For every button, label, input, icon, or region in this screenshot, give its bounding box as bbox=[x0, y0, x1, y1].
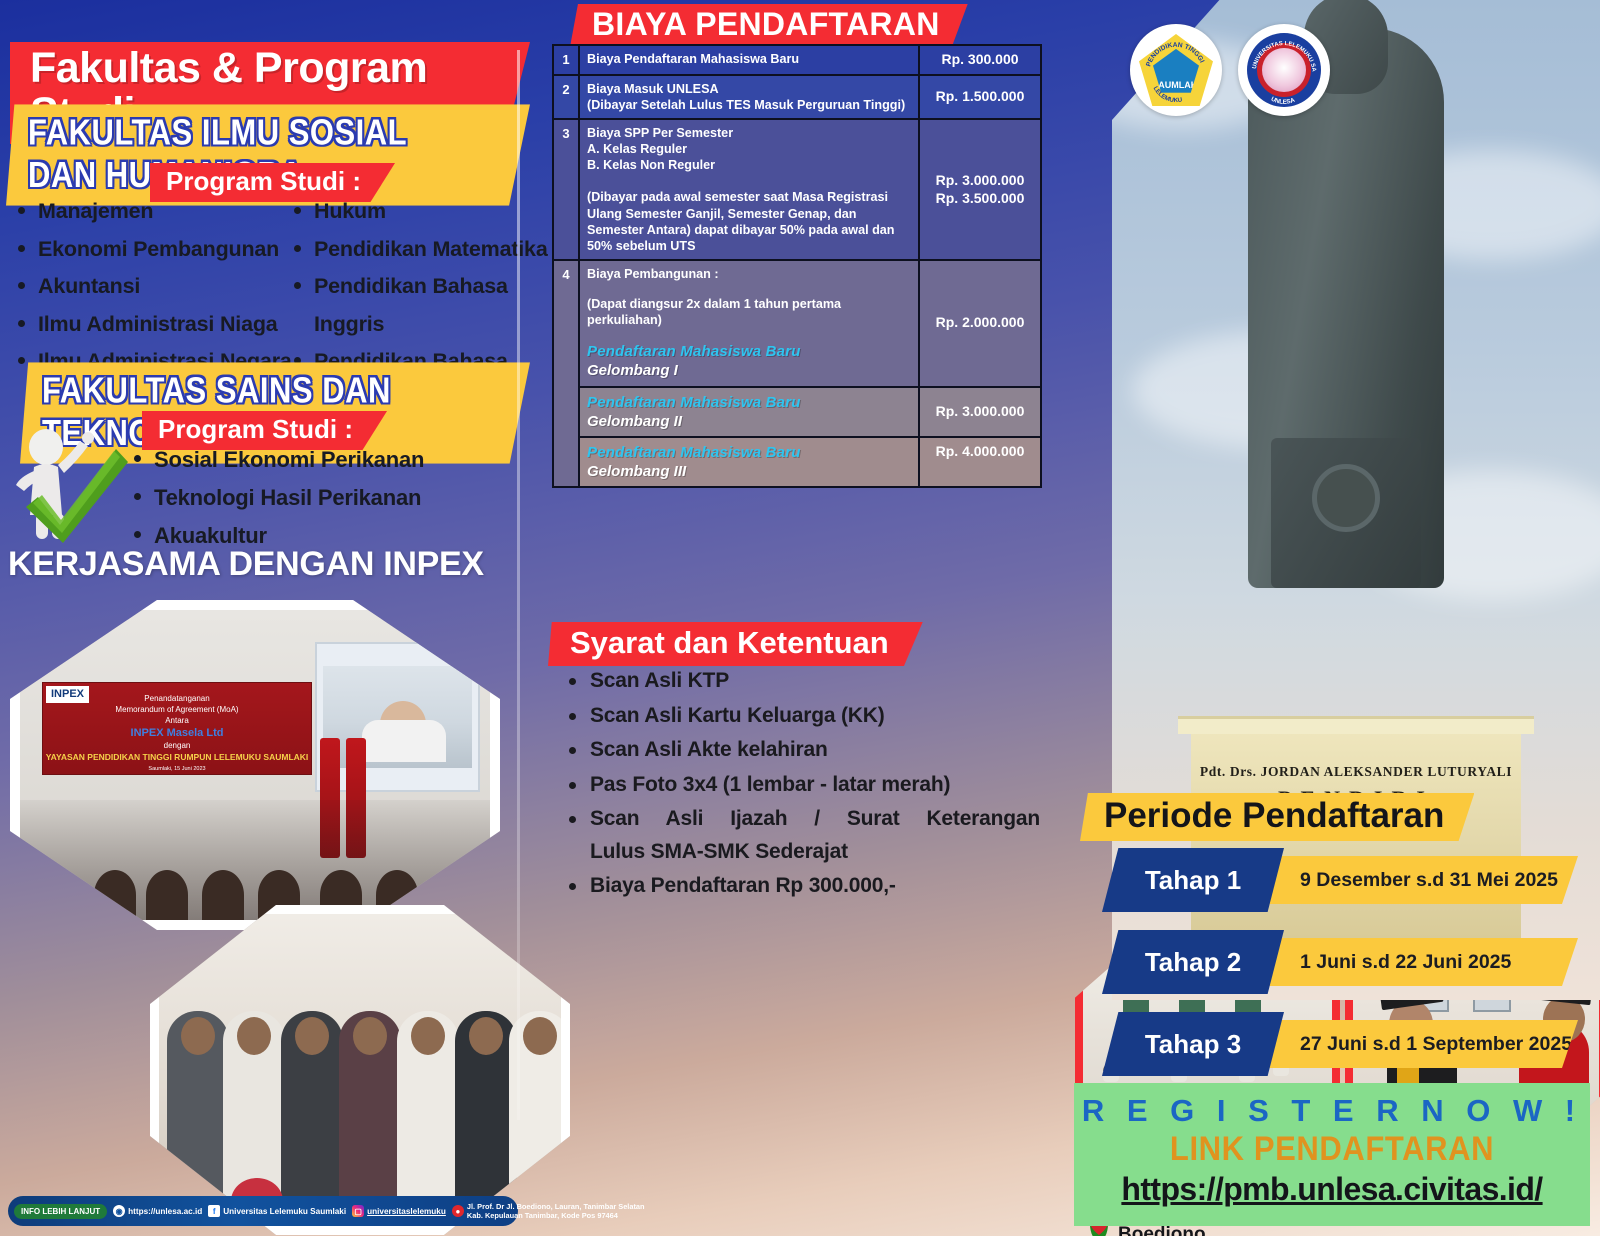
instagram-link[interactable]: ▢ universitaslelemuku bbox=[352, 1205, 446, 1217]
list-item: Scan Asli Kartu Keluarga (KK) bbox=[560, 700, 1040, 733]
moa-banner: INPEX Penandatanganan Memorandum of Agre… bbox=[42, 682, 312, 775]
row-desc-note: (Dibayar pada awal semester saat Masa Re… bbox=[587, 189, 911, 253]
register-link-label: LINK PENDAFTARAN bbox=[1074, 1129, 1590, 1169]
terms-list: Scan Asli KTP Scan Asli Kartu Keluarga (… bbox=[560, 665, 1040, 905]
row-number: 3 bbox=[553, 119, 579, 260]
globe-icon: ◉ bbox=[113, 1205, 125, 1217]
row-amount: Rp. 4.000.000 bbox=[919, 437, 1041, 487]
row-description: Biaya Pendaftaran Mahasiswa Baru bbox=[579, 45, 919, 75]
row-desc-main: Biaya Pembangunan : bbox=[587, 266, 911, 282]
checkmark-mascot-icon bbox=[8, 425, 133, 545]
row-amount: Rp. 3.000.000 bbox=[919, 387, 1041, 437]
statue-pedestal: Pdt. Drs. JORDAN ALEKSANDER LUTURYALI PE… bbox=[1191, 730, 1521, 960]
period-label: Tahap 3 bbox=[1102, 1012, 1284, 1076]
table-row: Pendaftaran Mahasiswa Baru Gelombang II … bbox=[553, 387, 1041, 437]
map-pin-icon: ● bbox=[452, 1205, 464, 1217]
center-column: BIAYA PENDAFTARAN 1 Biaya Pendaftaran Ma… bbox=[530, 0, 1060, 1236]
wave-title: Pendaftaran Mahasiswa Baru bbox=[587, 443, 911, 462]
moa-line-2: Memorandum of Agreement (MoA) bbox=[43, 705, 311, 716]
row-number: 4 bbox=[553, 260, 579, 487]
facebook-link[interactable]: f Universitas Lelemuku Saumlaki bbox=[208, 1205, 346, 1217]
row-description: Biaya Pembangunan : (Dapat diangsur 2x d… bbox=[579, 260, 919, 387]
left-column: Fakultas & Program Studi FAKULTAS ILMU S… bbox=[0, 0, 530, 1236]
row-number: 1 bbox=[553, 45, 579, 75]
fee-table: 1 Biaya Pendaftaran Mahasiswa Baru Rp. 3… bbox=[552, 44, 1042, 488]
table-row: 1 Biaya Pendaftaran Mahasiswa Baru Rp. 3… bbox=[553, 45, 1041, 75]
list-item: Biaya Pendaftaran Rp 300.000,- bbox=[560, 870, 1040, 903]
facebook-label: Universitas Lelemuku Saumlaki bbox=[223, 1207, 346, 1216]
period-label: Tahap 1 bbox=[1102, 848, 1284, 912]
wave-title: Pendaftaran Mahasiswa Baru bbox=[587, 342, 911, 361]
list-item-line-1: Scan Asli Ijazah / Surat Keterangan bbox=[590, 803, 1040, 836]
row-desc-main: Biaya SPP Per Semester A. Kelas Reguler … bbox=[587, 125, 911, 173]
list-item: Manajemen bbox=[14, 196, 299, 227]
svg-text:UNLESA: UNLESA bbox=[1270, 96, 1297, 106]
list-item: Scan Asli Akte kelahiran bbox=[560, 734, 1040, 767]
list-item: Teknologi Hasil Perikanan bbox=[130, 482, 510, 513]
row-desc-note: (Dapat diangsur 2x dalam 1 tahun pertama… bbox=[587, 296, 911, 328]
register-now-box[interactable]: R E G I S T E R N O W ! LINK PENDAFTARAN… bbox=[1074, 1083, 1590, 1226]
wave-subtitle: Gelombang I bbox=[587, 361, 911, 380]
list-item: Hukum bbox=[290, 196, 555, 227]
period-date: 27 Juni s.d 1 September 2025 bbox=[1258, 1020, 1578, 1068]
audience-silhouettes bbox=[20, 800, 490, 920]
moa-party-1: INPEX Masela Ltd bbox=[43, 726, 311, 741]
table-row: 4 Biaya Pembangunan : (Dapat diangsur 2x… bbox=[553, 260, 1041, 387]
list-item: Pas Foto 3x4 (1 lembar - latar merah) bbox=[560, 769, 1040, 802]
instagram-icon: ▢ bbox=[352, 1205, 364, 1217]
people-row bbox=[159, 976, 561, 1226]
table-row: 3 Biaya SPP Per Semester A. Kelas Regule… bbox=[553, 119, 1041, 260]
fee-section-title: BIAYA PENDAFTARAN bbox=[570, 4, 968, 47]
photo-group-lineup bbox=[150, 905, 570, 1235]
monument-inscription-name: Pdt. Drs. JORDAN ALEKSANDER LUTURYALI bbox=[1191, 764, 1521, 780]
list-item: Scan Asli Ijazah / Surat Keterangan Lulu… bbox=[560, 803, 1040, 868]
partnership-headline: KERJASAMA DENGAN INPEX bbox=[8, 545, 484, 584]
table-row: 2 Biaya Masuk UNLESA (Dibayar Setelah Lu… bbox=[553, 75, 1041, 119]
list-item: Scan Asli KTP bbox=[560, 665, 1040, 698]
right-column: Pdt. Drs. JORDAN ALEKSANDER LUTURYALI PE… bbox=[1060, 0, 1600, 1236]
svg-text:LELEMUKU: LELEMUKU bbox=[1152, 85, 1184, 104]
row-description: Pendaftaran Mahasiswa Baru Gelombang III bbox=[579, 437, 919, 487]
list-item: Ilmu Administrasi Niaga bbox=[14, 309, 299, 340]
inpex-logo: INPEX bbox=[46, 686, 89, 703]
period-label: Tahap 2 bbox=[1102, 930, 1284, 994]
website-label: https://unlesa.ac.id bbox=[128, 1207, 202, 1216]
moa-place-date: Saumlaki, 15 Juni 2023 bbox=[43, 766, 311, 773]
list-item: Pendidikan Bahasa bbox=[290, 271, 555, 302]
register-now-heading: R E G I S T E R N O W ! bbox=[1074, 1093, 1590, 1129]
period-date: 1 Juni s.d 22 Juni 2025 bbox=[1258, 938, 1578, 986]
vertical-divider bbox=[517, 50, 520, 1120]
period-row: 27 Juni s.d 1 September 2025 Tahap 3 bbox=[1082, 1012, 1582, 1076]
list-item: Pendidikan Matematika bbox=[290, 234, 555, 265]
row-amount: Rp. 1.500.000 bbox=[919, 75, 1041, 119]
moa-party-2: YAYASAN PENDIDIKAN TINGGI RUMPUN LELEMUK… bbox=[43, 752, 311, 763]
period-row: 1 Juni s.d 22 Juni 2025 Tahap 2 bbox=[1082, 930, 1582, 994]
period-section-title: Periode Pendaftaran bbox=[1080, 793, 1474, 841]
row-number: 2 bbox=[553, 75, 579, 119]
row-description: Pendaftaran Mahasiswa Baru Gelombang II bbox=[579, 387, 919, 437]
svg-text:PENDIDIKAN TINGGI: PENDIDIKAN TINGGI bbox=[1145, 42, 1205, 68]
list-item-line-2: Lulus SMA-SMK Sederajat bbox=[590, 836, 1040, 869]
row-description: Biaya SPP Per Semester A. Kelas Reguler … bbox=[579, 119, 919, 260]
row-amount: Rp. 3.000.000 Rp. 3.500.000 bbox=[919, 119, 1041, 260]
wave-subtitle: Gelombang II bbox=[587, 412, 911, 431]
row-description: Biaya Masuk UNLESA (Dibayar Setelah Lulu… bbox=[579, 75, 919, 119]
facebook-icon: f bbox=[208, 1205, 220, 1217]
period-date: 9 Desember s.d 31 Mei 2025 bbox=[1258, 856, 1578, 904]
wave-subtitle: Gelombang III bbox=[587, 462, 911, 481]
registration-url[interactable]: https://pmb.unlesa.civitas.id/ bbox=[1074, 1171, 1590, 1208]
logo-yayasan-pendidikan-tinggi: SAUMLAKI PENDIDIKAN TINGGI LELEMUKU bbox=[1130, 24, 1222, 116]
list-item: Sosial Ekonomi Perikanan bbox=[130, 444, 510, 475]
wave-title: Pendaftaran Mahasiswa Baru bbox=[587, 393, 911, 412]
table-row: Pendaftaran Mahasiswa Baru Gelombang III… bbox=[553, 437, 1041, 487]
statue-podium bbox=[1271, 438, 1421, 588]
svg-text:UNIVERSITAS LELEMUKU SAUMLAKI: UNIVERSITAS LELEMUKU SAUMLAKI bbox=[1243, 29, 1317, 73]
period-row: 9 Desember s.d 31 Mei 2025 Tahap 1 bbox=[1082, 848, 1582, 912]
row-amount: Rp. 300.000 bbox=[919, 45, 1041, 75]
poster-canvas: Fakultas & Program Studi FAKULTAS ILMU S… bbox=[0, 0, 1600, 1236]
list-item: Ekonomi Pembangunan bbox=[14, 234, 299, 265]
program-list-humaniora-left: Manajemen Ekonomi Pembangunan Akuntansi … bbox=[14, 196, 299, 384]
program-list-sains: Sosial Ekonomi Perikanan Teknologi Hasil… bbox=[130, 444, 510, 559]
moa-line-3: Antara bbox=[43, 716, 311, 727]
list-item: Akuntansi bbox=[14, 271, 299, 302]
terms-section-title: Syarat dan Ketentuan bbox=[548, 622, 923, 666]
website-link[interactable]: ◉ https://unlesa.ac.id bbox=[113, 1205, 202, 1217]
photo-moa-signing: INPEX Penandatanganan Memorandum of Agre… bbox=[10, 600, 500, 930]
info-pill-label: INFO LEBIH LANJUT bbox=[14, 1204, 107, 1219]
contact-info-bar: INFO LEBIH LANJUT ◉ https://unlesa.ac.id… bbox=[8, 1196, 518, 1226]
instagram-label: universitaslelemuku bbox=[367, 1207, 446, 1216]
list-item-continuation: Inggris bbox=[290, 309, 555, 340]
statue-seal bbox=[1312, 464, 1380, 532]
logo-universitas-lelemuku: UNIVERSITAS LELEMUKU SAUMLAKI UNLESA bbox=[1238, 24, 1330, 116]
moa-connector: dengan bbox=[43, 741, 311, 752]
row-amount: Rp. 2.000.000 bbox=[919, 260, 1041, 387]
